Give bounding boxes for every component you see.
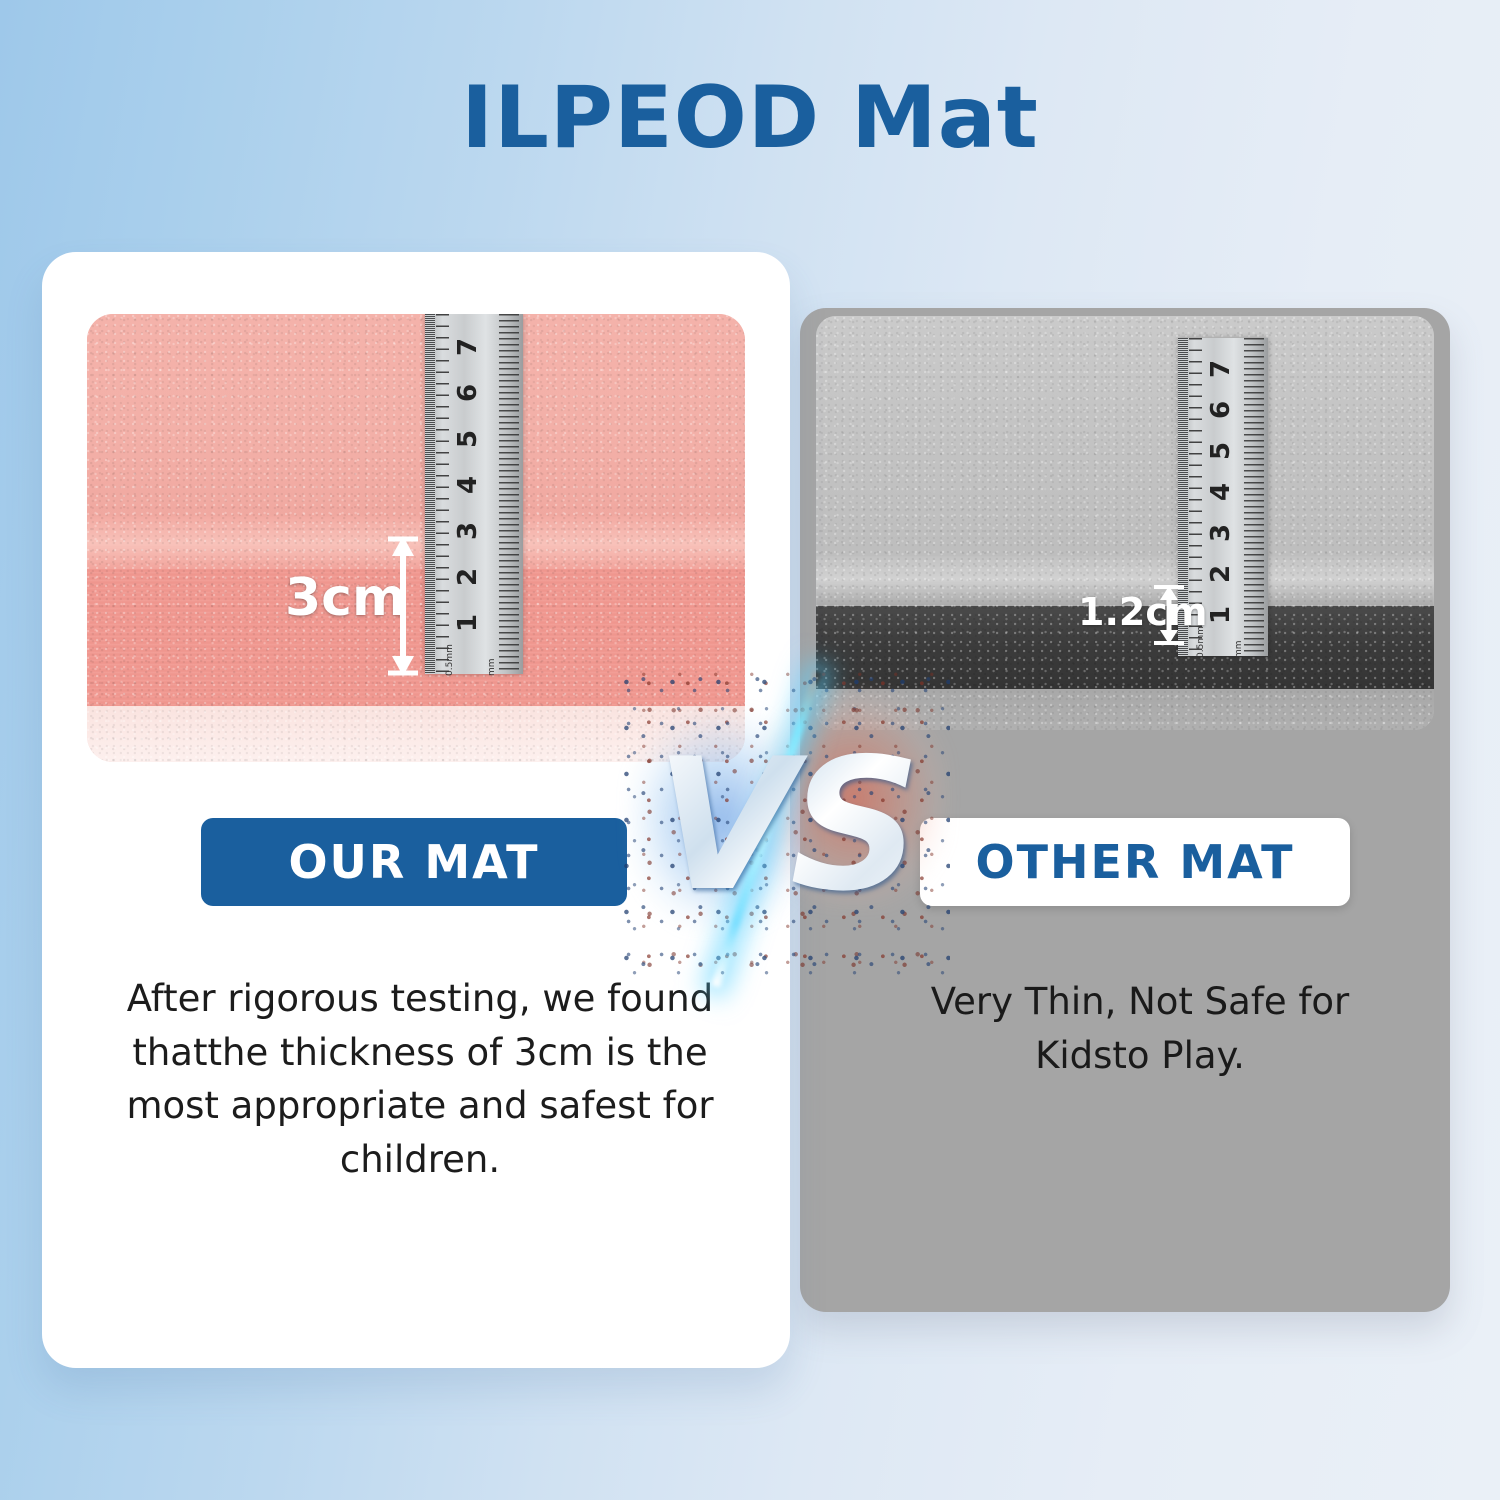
ruler-knurled-edge [425, 314, 435, 674]
other-ruler-minor-ticks-right [1244, 338, 1264, 656]
page-title: ILPEOD Mat [0, 68, 1500, 168]
other-ruler-number-1: 1 [1206, 598, 1236, 632]
other-mat-surface-layer [816, 316, 1434, 573]
other-mat-thickness-arrow [1154, 584, 1184, 646]
ruler-numerals: 1 2 3 4 5 6 7 [451, 314, 485, 674]
other-ruler-number-7: 7 [1206, 352, 1236, 386]
other-mat-badge[interactable]: OTHER MAT [920, 818, 1350, 906]
ruler-precision-label: 0.5mm [445, 644, 455, 676]
other-mat-thickness-label: 1.2cm [1078, 590, 1207, 634]
vs-graphic: VS [620, 670, 950, 980]
ruler-number-7: 7 [453, 330, 483, 364]
other-ruler-number-5: 5 [1206, 434, 1236, 468]
other-ruler-number-2: 2 [1206, 557, 1236, 591]
other-ruler-number-4: 4 [1206, 475, 1236, 509]
other-mat-description: Very Thin, Not Safe for Kidsto Play. [890, 975, 1390, 1082]
ruler-number-3: 3 [453, 514, 483, 548]
other-ruler-unit-label: mm [1234, 640, 1244, 658]
mat-surface-layer [87, 314, 745, 529]
other-mat-photo: 1 2 3 4 5 6 7 0.5mm mm 1.2cm [816, 316, 1434, 730]
other-ruler-number-6: 6 [1206, 393, 1236, 427]
other-ruler-numerals: 1 2 3 4 5 6 7 [1204, 338, 1238, 656]
ruler-unit-label: mm [487, 658, 497, 676]
double-arrow-icon [1154, 584, 1184, 646]
double-arrow-icon [388, 536, 418, 676]
our-mat-description: After rigorous testing, we found thatthe… [120, 972, 720, 1187]
ruler-number-2: 2 [453, 560, 483, 594]
ruler-number-4: 4 [453, 468, 483, 502]
ruler-minor-ticks-right [499, 314, 519, 674]
ruler-number-1: 1 [453, 606, 483, 640]
ruler-minor-ticks-left [436, 314, 449, 674]
our-mat-thickness-arrow [388, 536, 418, 676]
vs-label: VS [620, 670, 950, 980]
other-ruler-number-3: 3 [1206, 516, 1236, 550]
ruler-number-5: 5 [453, 422, 483, 456]
ruler-number-6: 6 [453, 376, 483, 410]
our-mat-badge[interactable]: OUR MAT [201, 818, 627, 906]
steel-ruler: 1 2 3 4 5 6 7 0.5mm mm [425, 314, 523, 674]
